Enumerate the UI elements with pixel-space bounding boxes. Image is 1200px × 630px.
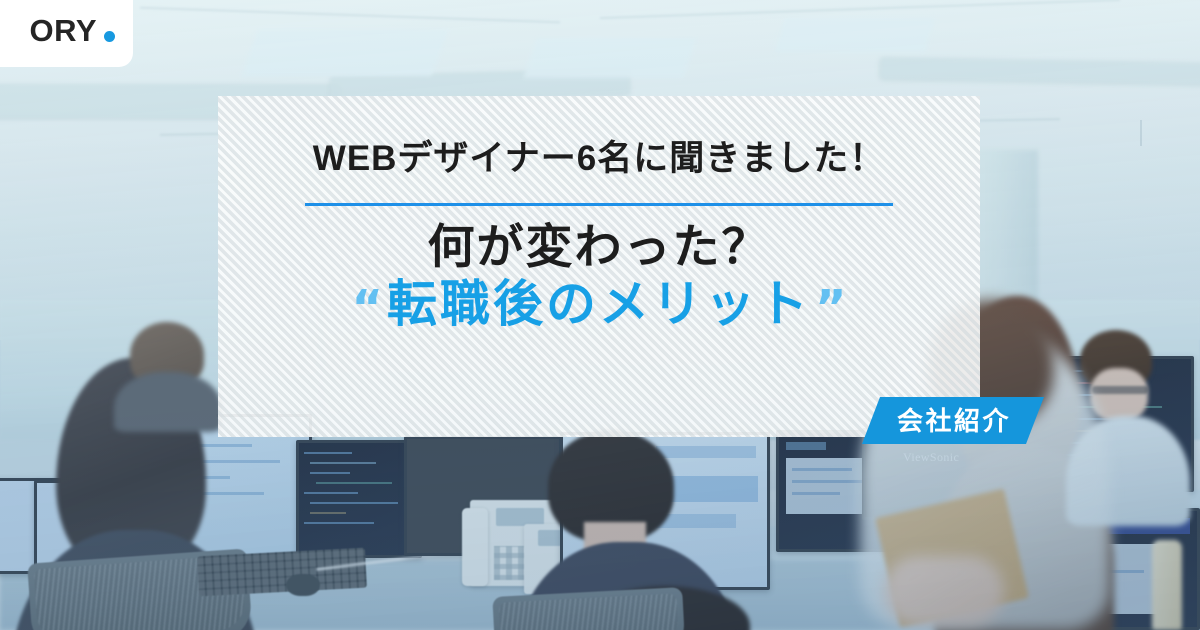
divider-rule [305,203,893,206]
question-text: 何が変わった？ [428,220,771,274]
blue-dot-icon [104,31,115,42]
emphasis-row: “ 転職後のメリット ” [351,276,846,334]
logo-text: ORY [29,13,97,48]
headline-panel: WEBデザイナー6名に聞きました！ 何が変わった？ “ 転職後のメリット ” [218,96,980,437]
logo-wordmark: ORY [29,0,115,46]
kicker-text: WEBデザイナー6名に聞きました！ [313,140,885,179]
category-badge[interactable]: 会社紹介 [862,397,1044,444]
emphasis-text: 転職後のメリット [387,276,811,334]
quote-open-icon: “ [351,284,383,332]
quote-close-icon: ” [815,284,847,332]
logo-badge[interactable]: ORY [0,0,133,67]
category-badge-label: 会社紹介 [895,408,1011,434]
